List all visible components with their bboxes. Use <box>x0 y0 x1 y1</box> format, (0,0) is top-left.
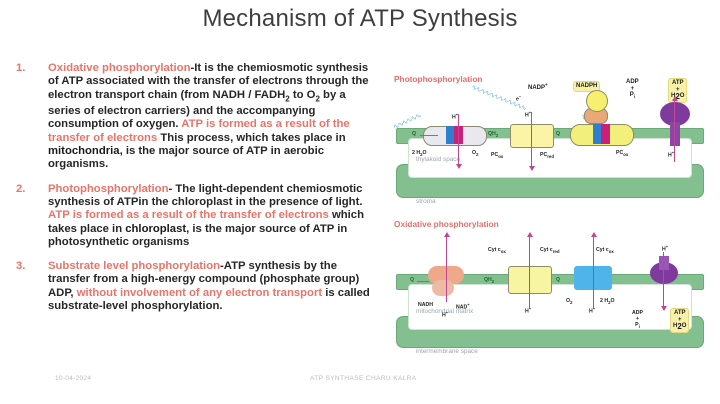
diagram-title: Photophosphorylation <box>394 74 483 84</box>
proton-flow-arrow <box>591 232 597 237</box>
label-2h2o: 2 H2O <box>600 298 615 305</box>
label-pc-red: PCred <box>540 152 554 159</box>
label-cyt-c-ox: Cyt cox <box>488 247 506 254</box>
term-oxidative-phosphorylation: Oxidative phosphorylation <box>48 62 191 74</box>
label-2h2o: 2 H2O <box>412 150 427 157</box>
label-h-plus: H+ <box>589 306 595 315</box>
label-e-minus: e− <box>516 94 521 103</box>
ferredoxin <box>586 90 608 112</box>
term-photophosphorylation: Photophosphorylation <box>48 183 169 195</box>
footer-note: ATP SYNTHASE CHARU KALRA <box>310 375 417 382</box>
term-substrate-level-phosphorylation: Substrate level phosphorylation <box>48 260 220 272</box>
label-adp-pi: ADP+Pi <box>626 79 639 101</box>
complex-psi-core-magenta <box>601 124 610 144</box>
photophosphorylation-diagram: Photophosphorylation ∿∿∿∿∿∿∿∿∿∿∿∿ ∿∿∿∿∿∿… <box>388 66 714 202</box>
diagram-title: Oxidative phosphorylation <box>394 219 499 229</box>
label-pc-ox: PCox <box>616 150 628 157</box>
label-pc-ox: PCox <box>491 152 503 159</box>
slide-canvas: Mechanism of ATP Synthesis 1. Oxidative … <box>0 0 720 404</box>
list-item-number: 3. <box>16 260 25 273</box>
label-h-plus: H+ <box>668 150 674 159</box>
label-qh2: QH2 <box>484 277 494 284</box>
thylakoid-space-label: thylakoid space <box>416 156 460 163</box>
label-q: Q <box>410 277 414 283</box>
label-h-plus: H+ <box>442 310 448 319</box>
page-title: Mechanism of ATP Synthesis <box>0 5 720 33</box>
label-qh2: QH2 <box>488 131 498 138</box>
label-q: Q <box>556 131 560 137</box>
complex-psii-core-blue <box>446 126 454 144</box>
label-h-plus: H+ <box>452 112 458 121</box>
subscript: 2 <box>315 94 319 103</box>
label-adp-pi: ADP+Pi <box>632 310 643 330</box>
stroma-label: stroma <box>416 198 436 205</box>
label-nadh: NADH <box>418 302 433 308</box>
list-item: 1. Oxidative phosphorylation-It is the c… <box>14 62 374 172</box>
proton-flow-arrow <box>527 232 533 237</box>
list-item-number: 2. <box>16 183 25 196</box>
electron-path <box>417 281 429 282</box>
organelle-chloroplast: chloroplast <box>125 223 186 235</box>
label-h-plus: H+ <box>525 306 531 315</box>
footer-date: 10-04-2024 <box>55 375 91 382</box>
electron-path <box>420 135 438 136</box>
intermembrane-space-label: intermembrane space <box>416 348 478 355</box>
oxidative-phosphorylation-diagram: Oxidative phosphorylation Cyt cox Cyt cr… <box>388 212 714 362</box>
proton-flow-arrow <box>661 306 667 311</box>
complex-psi-core-blue <box>593 124 601 144</box>
label-cyt-c-ox: Cyt cox <box>596 247 614 254</box>
list-item: 2. Photophosphorylation- The light-depen… <box>14 183 374 249</box>
label-q: Q <box>412 131 416 137</box>
proton-flow-line <box>529 236 530 308</box>
proton-flow-line <box>531 112 532 168</box>
label-nad-plus: NAD+ <box>456 302 470 311</box>
badge-atp-h2o: ATP+H2O <box>670 308 689 333</box>
proton-flow-line <box>446 236 447 302</box>
label-nadp-plus: NADP+ <box>528 82 548 91</box>
proton-flow-line <box>663 252 664 310</box>
subscript: 2 <box>285 94 289 103</box>
body-text-cont: This process, which takes place in <box>157 132 345 144</box>
proton-flow-line <box>593 236 594 308</box>
label-cyt-c-red: Cyt cred <box>540 247 560 254</box>
complex-i-lobe <box>432 280 454 296</box>
label-o2: O2 <box>472 150 479 157</box>
bullet-list: 1. Oxidative phosphorylation-It is the c… <box>14 62 374 324</box>
proton-flow-line <box>674 100 675 162</box>
proton-flow-arrow <box>672 96 678 101</box>
proton-flow-arrow <box>529 166 535 171</box>
label-h-plus: H+ <box>525 110 531 119</box>
list-item-number: 1. <box>16 62 25 75</box>
proton-flow-line <box>458 114 459 166</box>
label-o2: O2 <box>566 298 573 305</box>
organelle-mitochondria: mitochondria <box>48 145 120 157</box>
proton-flow-arrow <box>456 164 462 169</box>
emphasis-text: without involvement of any electron tran… <box>77 287 322 299</box>
proton-flow-arrow <box>444 232 450 237</box>
list-item: 3. Substrate level phosphorylation-ATP s… <box>14 260 374 313</box>
label-q: Q <box>556 277 560 283</box>
emphasis-text: ATP is formed as a result of the transfe… <box>48 209 329 221</box>
